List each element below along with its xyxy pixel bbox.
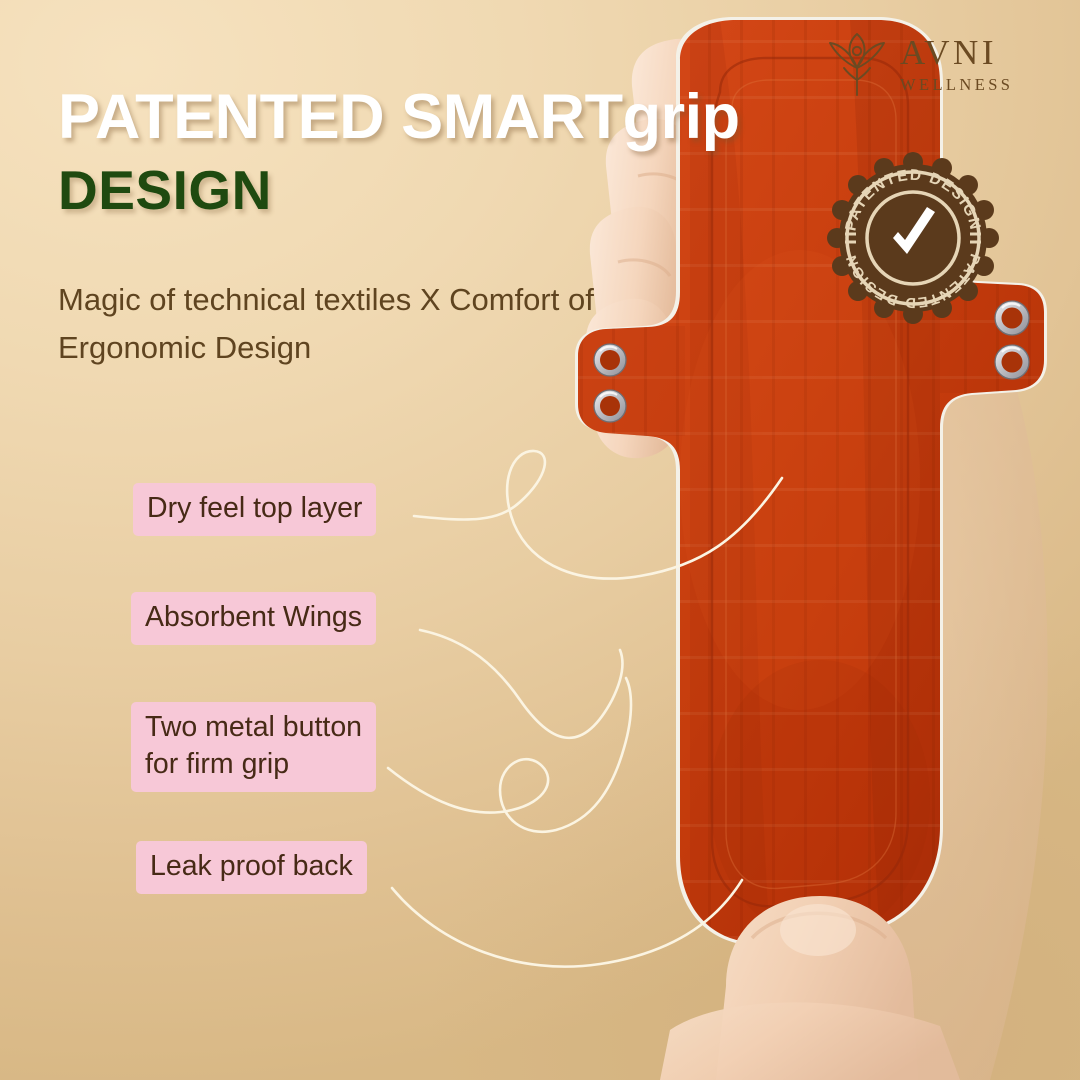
metal-snap-button-right-lower [995,345,1029,379]
logo-brand-tagline: WELLNESS [900,77,1013,94]
metal-snap-button-right-upper [995,301,1029,335]
feature-label-two-metal-button: Two metal button for firm grip [131,702,376,792]
brand-logo: AVNI WELLNESS [826,28,1013,100]
page-title: PATENTED SMARTgrip DESIGN [58,86,740,218]
feature-label-leak-proof-back: Leak proof back [136,841,367,894]
patented-design-seal-icon: PATENTED DESIGN PATENTED DESIGN [827,152,999,324]
logo-wordmark: AVNI WELLNESS [900,35,1013,94]
headline-word-patented: PATENTED [58,82,401,152]
headline-word-grip: grip [623,82,740,152]
headline-line-1: PATENTED SMARTgrip [58,86,740,149]
subtitle: Magic of technical textiles X Comfort of… [58,276,738,372]
avni-lotus-figure-icon [826,28,888,100]
logo-brand-name: AVNI [900,35,1013,70]
feature-label-absorbent-wings: Absorbent Wings [131,592,376,645]
metal-snap-button-left-lower [594,390,626,422]
headline-line-2: DESIGN [58,163,740,218]
feature-label-dry-feel-top-layer: Dry feel top layer [133,483,376,536]
product-infographic-poster: AVNI WELLNESS [0,0,1080,1080]
headline-word-smart: SMART [401,82,622,152]
